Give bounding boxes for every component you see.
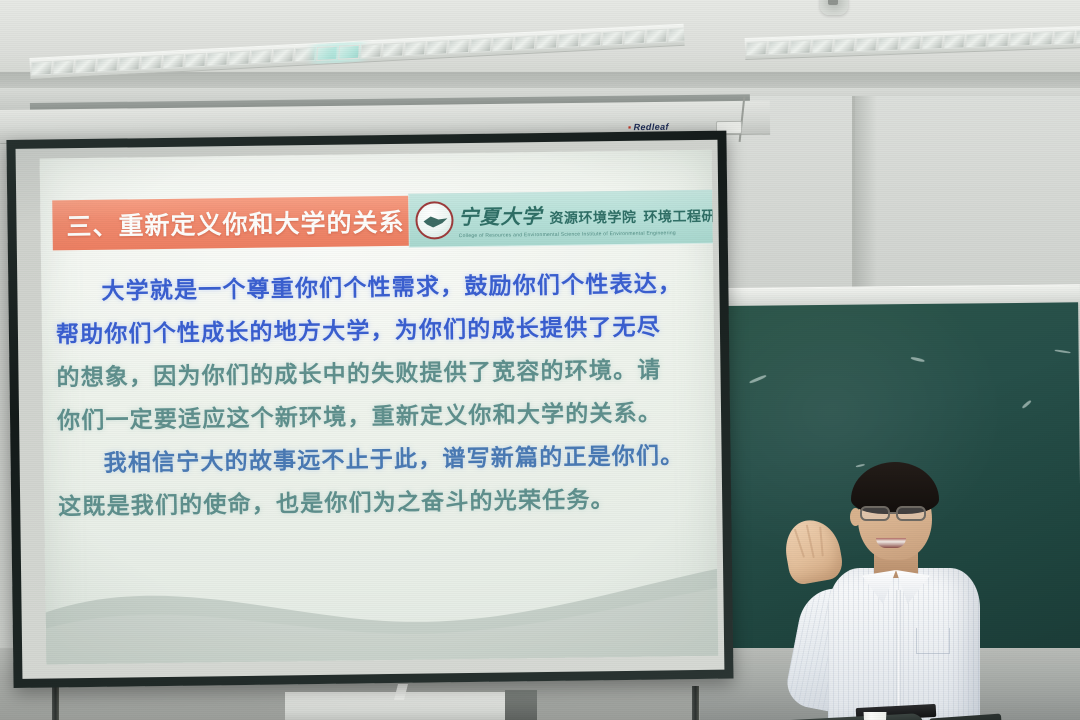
light-cell <box>404 41 426 56</box>
slide-text-line: 这既是我们的使命，也是你们为之奋斗的光荣任务。 <box>58 477 709 529</box>
light-cell <box>899 36 921 51</box>
light-cell <box>602 31 624 46</box>
light-cell <box>987 33 1009 48</box>
light-cell <box>514 35 536 50</box>
light-cell <box>316 46 338 61</box>
slide-decorative-wave <box>45 545 718 664</box>
raised-hand <box>781 516 845 586</box>
light-cell <box>382 42 404 57</box>
slide-paragraph: 大学就是一个尊重你们个性需求，鼓励你们个性表达，帮助你们个性成长的地方大学，为你… <box>55 262 707 442</box>
eyeglasses-bridge <box>890 512 896 514</box>
projection-screen-frame: 三、重新定义你和大学的关系 宁夏大学 资源环境学院 环境工程研究院 Colleg… <box>6 131 733 688</box>
shirt-placket <box>896 590 901 720</box>
light-cell <box>746 41 768 56</box>
light-cell <box>943 34 965 49</box>
light-cell <box>767 40 789 55</box>
ceiling-sensor-icon <box>820 0 848 15</box>
light-cell <box>272 48 294 63</box>
light-cell <box>75 59 97 74</box>
slide-paragraph: 我相信宁大的故事远不止于此，谱写新篇的正是你们。这既是我们的使命，也是你们为之奋… <box>57 434 708 529</box>
light-cell <box>140 55 162 70</box>
light-cell <box>426 40 448 55</box>
logo-chinese-row: 宁夏大学 资源环境学院 环境工程研究院 <box>458 198 718 230</box>
screen-support-leg <box>52 686 59 720</box>
slide-title: 三、重新定义你和大学的关系 <box>52 203 404 244</box>
eyeglasses-lens-right <box>896 506 926 521</box>
light-cell <box>811 39 833 54</box>
shirt-pocket <box>916 628 950 654</box>
paper-cup <box>862 712 888 720</box>
light-cell <box>833 38 855 53</box>
light-cell <box>294 47 316 62</box>
logo-department-1: 资源环境学院 <box>549 207 636 228</box>
light-cell <box>855 37 877 52</box>
logo-english-name: College of Resources and Environmental S… <box>459 230 719 239</box>
eyeglasses-lens-left <box>860 506 890 521</box>
light-cell <box>31 61 53 76</box>
screen-support-leg <box>692 686 699 720</box>
light-cell <box>536 34 558 49</box>
light-cell <box>338 45 360 60</box>
light-cell <box>448 39 470 54</box>
light-cell <box>1031 31 1053 46</box>
brand-dot-icon: ▪ <box>628 122 632 132</box>
light-cell <box>646 29 668 44</box>
light-cell <box>470 38 492 53</box>
light-cell <box>492 37 514 52</box>
light-cell <box>624 30 646 45</box>
presentation-slide: 三、重新定义你和大学的关系 宁夏大学 资源环境学院 环境工程研究院 Colleg… <box>40 150 719 665</box>
logo-text-group: 宁夏大学 资源环境学院 环境工程研究院 College of Resources… <box>458 198 718 239</box>
projection-screen-surface: 三、重新定义你和大学的关系 宁夏大学 资源环境学院 环境工程研究院 Colleg… <box>16 140 725 679</box>
university-logo-plate: 宁夏大学 资源环境学院 环境工程研究院 College of Resources… <box>408 190 718 248</box>
classroom-scene: ▪Redleaf 三、重新定义你和大学的关系 <box>0 0 1080 720</box>
light-cell <box>162 54 184 69</box>
light-cell <box>53 60 75 75</box>
logo-department-2: 环境工程研究院 <box>643 205 718 226</box>
light-cell <box>580 32 602 47</box>
light-cell <box>965 34 987 49</box>
light-cell <box>921 35 943 50</box>
slide-body-text: 大学就是一个尊重你们个性需求，鼓励你们个性表达，帮助你们个性成长的地方大学，为你… <box>55 262 708 528</box>
emblem-bird-shape <box>423 216 447 227</box>
light-cell <box>228 50 250 65</box>
logo-university-name: 宁夏大学 <box>458 200 542 230</box>
light-cell <box>360 44 382 59</box>
light-cell <box>97 57 119 72</box>
university-emblem-icon <box>415 201 453 239</box>
podium-side-panel <box>505 690 537 720</box>
light-cell <box>1009 32 1031 47</box>
light-cell <box>184 53 206 68</box>
light-cell <box>1075 30 1080 45</box>
light-cell <box>558 33 580 48</box>
light-cell <box>668 27 685 42</box>
light-cell <box>789 40 811 55</box>
light-cell <box>250 49 272 64</box>
lecturer <box>770 450 1020 720</box>
light-cell <box>1053 30 1075 45</box>
light-cell <box>206 52 228 67</box>
light-cell <box>119 56 141 71</box>
light-cell <box>877 37 899 52</box>
